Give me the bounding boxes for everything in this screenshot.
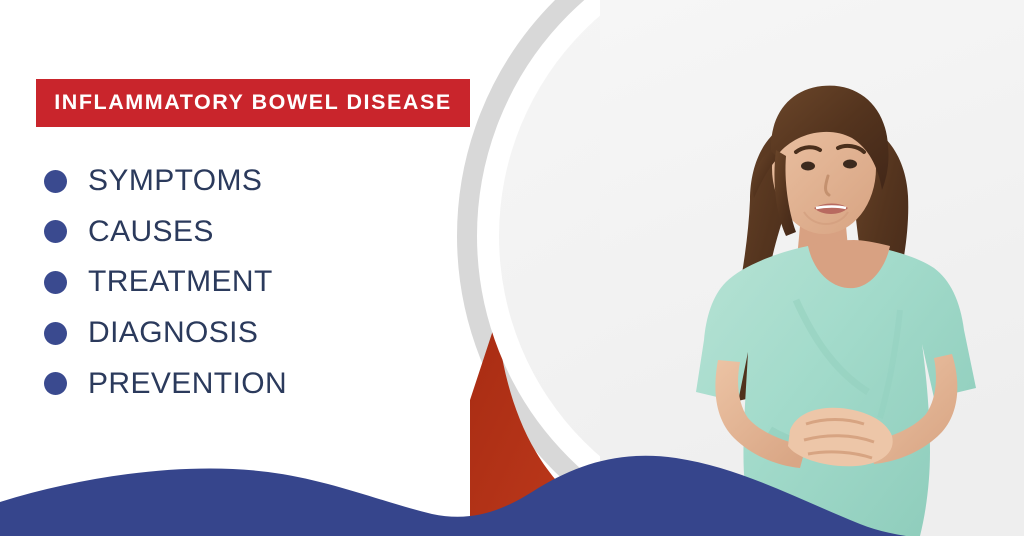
list-item[interactable]: SYMPTOMS [44,156,464,207]
list-item-label: PREVENTION [88,369,287,399]
list-item-label: TREATMENT [88,267,273,297]
bullet-icon [44,372,67,395]
poster-canvas: INFLAMMATORY BOWEL DISEASE SYMPTOMS CAUS… [0,0,1024,536]
bullet-icon [44,170,67,193]
list-item-label: CAUSES [88,217,214,247]
list-item[interactable]: CAUSES [44,207,464,258]
list-item-label: SYMPTOMS [88,166,262,196]
list-item[interactable]: DIAGNOSIS [44,308,464,359]
topic-list: SYMPTOMS CAUSES TREATMENT DIAGNOSIS PREV… [44,156,464,409]
title-banner: INFLAMMATORY BOWEL DISEASE [36,79,470,127]
bullet-icon [44,271,67,294]
bullet-icon [44,322,67,345]
list-item[interactable]: TREATMENT [44,257,464,308]
page-title: INFLAMMATORY BOWEL DISEASE [54,92,451,114]
list-item[interactable]: PREVENTION [44,358,464,409]
list-item-label: DIAGNOSIS [88,318,258,348]
bullet-icon [44,220,67,243]
